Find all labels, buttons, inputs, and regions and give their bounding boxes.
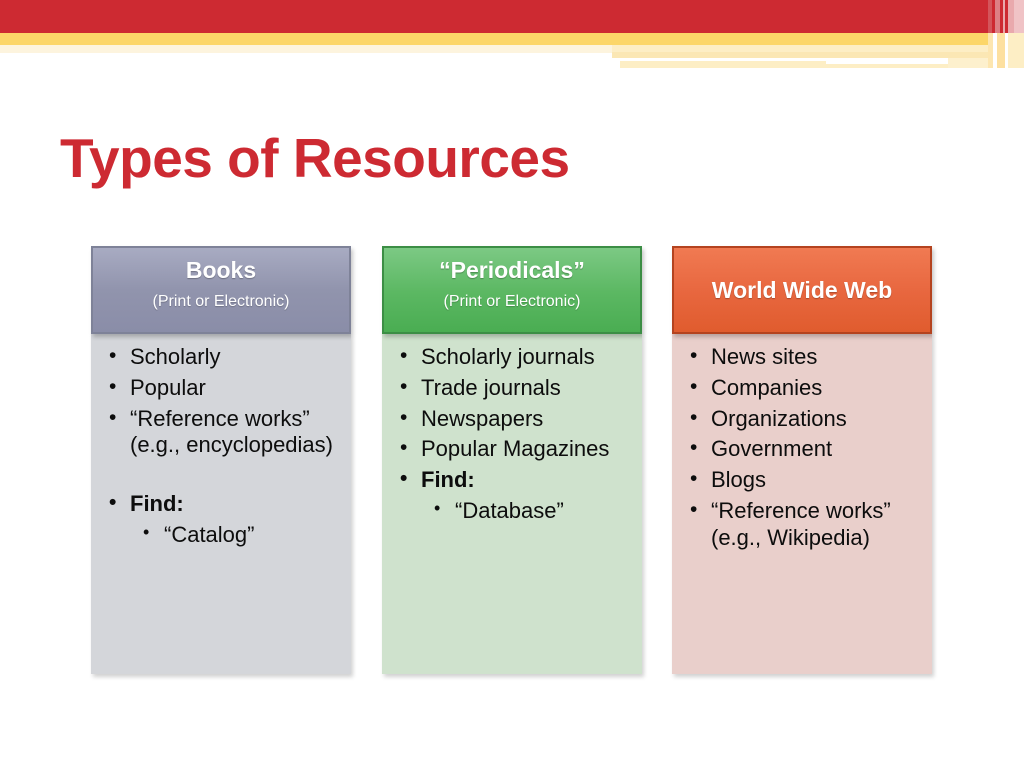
column-body-periodicals: Scholarly journals Trade journals Newspa… (382, 334, 642, 674)
list-spacer (101, 463, 341, 491)
column-header-title: “Periodicals” (392, 257, 632, 283)
decorative-top-banner (0, 0, 1024, 80)
banner-gold-band (0, 33, 1024, 45)
resource-column-books: Books (Print or Electronic) Scholarly Po… (91, 246, 351, 674)
banner-cream-left-band (0, 45, 612, 53)
list-item: Trade journals (392, 375, 632, 402)
list-item: News sites (682, 344, 922, 371)
list-item: Scholarly journals (392, 344, 632, 371)
list-item: Newspapers (392, 406, 632, 433)
list-item: Popular (101, 375, 341, 402)
banner-vertical-stripes (988, 0, 1024, 68)
column-body-books: Scholarly Popular “Reference works” (e.g… (91, 334, 351, 674)
column-header-title: Books (101, 257, 341, 283)
resource-column-periodicals: “Periodicals” (Print or Electronic) Scho… (382, 246, 642, 674)
column-header-title: World Wide Web (712, 277, 892, 303)
column-header-books: Books (Print or Electronic) (91, 246, 351, 334)
resource-columns: Books (Print or Electronic) Scholarly Po… (0, 246, 1024, 686)
list-item: Blogs (682, 467, 922, 494)
column-header-periodicals: “Periodicals” (Print or Electronic) (382, 246, 642, 334)
bullet-list-books: Scholarly Popular “Reference works” (e.g… (101, 344, 341, 549)
list-item: Organizations (682, 406, 922, 433)
page-title: Types of Resources (60, 126, 570, 190)
column-header-world-wide-web: World Wide Web (672, 246, 932, 334)
column-body-world-wide-web: News sites Companies Organizations Gover… (672, 334, 932, 674)
bullet-list-periodicals: Scholarly journals Trade journals Newspa… (392, 344, 632, 525)
column-header-subtitle: (Print or Electronic) (392, 293, 632, 311)
banner-red-band (0, 0, 1024, 33)
column-header-subtitle: (Print or Electronic) (101, 293, 341, 311)
list-item: Companies (682, 375, 922, 402)
list-item: “Reference works” (e.g., encyclopedias) (101, 406, 341, 460)
slide: Types of Resources Books (Print or Elect… (0, 0, 1024, 768)
list-item: Popular Magazines (392, 436, 632, 463)
bullet-list-world-wide-web: News sites Companies Organizations Gover… (682, 344, 922, 552)
list-item: Scholarly (101, 344, 341, 371)
list-item: “Reference works” (e.g., Wikipedia) (682, 498, 922, 552)
list-subitem: “Database” (392, 498, 632, 525)
list-subitem: “Catalog” (101, 522, 341, 549)
list-item: Government (682, 436, 922, 463)
list-item-find: Find: (101, 491, 341, 518)
resource-column-world-wide-web: World Wide Web News sites Companies Orga… (672, 246, 932, 674)
list-item-find: Find: (392, 467, 632, 494)
banner-stripe-4 (826, 61, 948, 64)
